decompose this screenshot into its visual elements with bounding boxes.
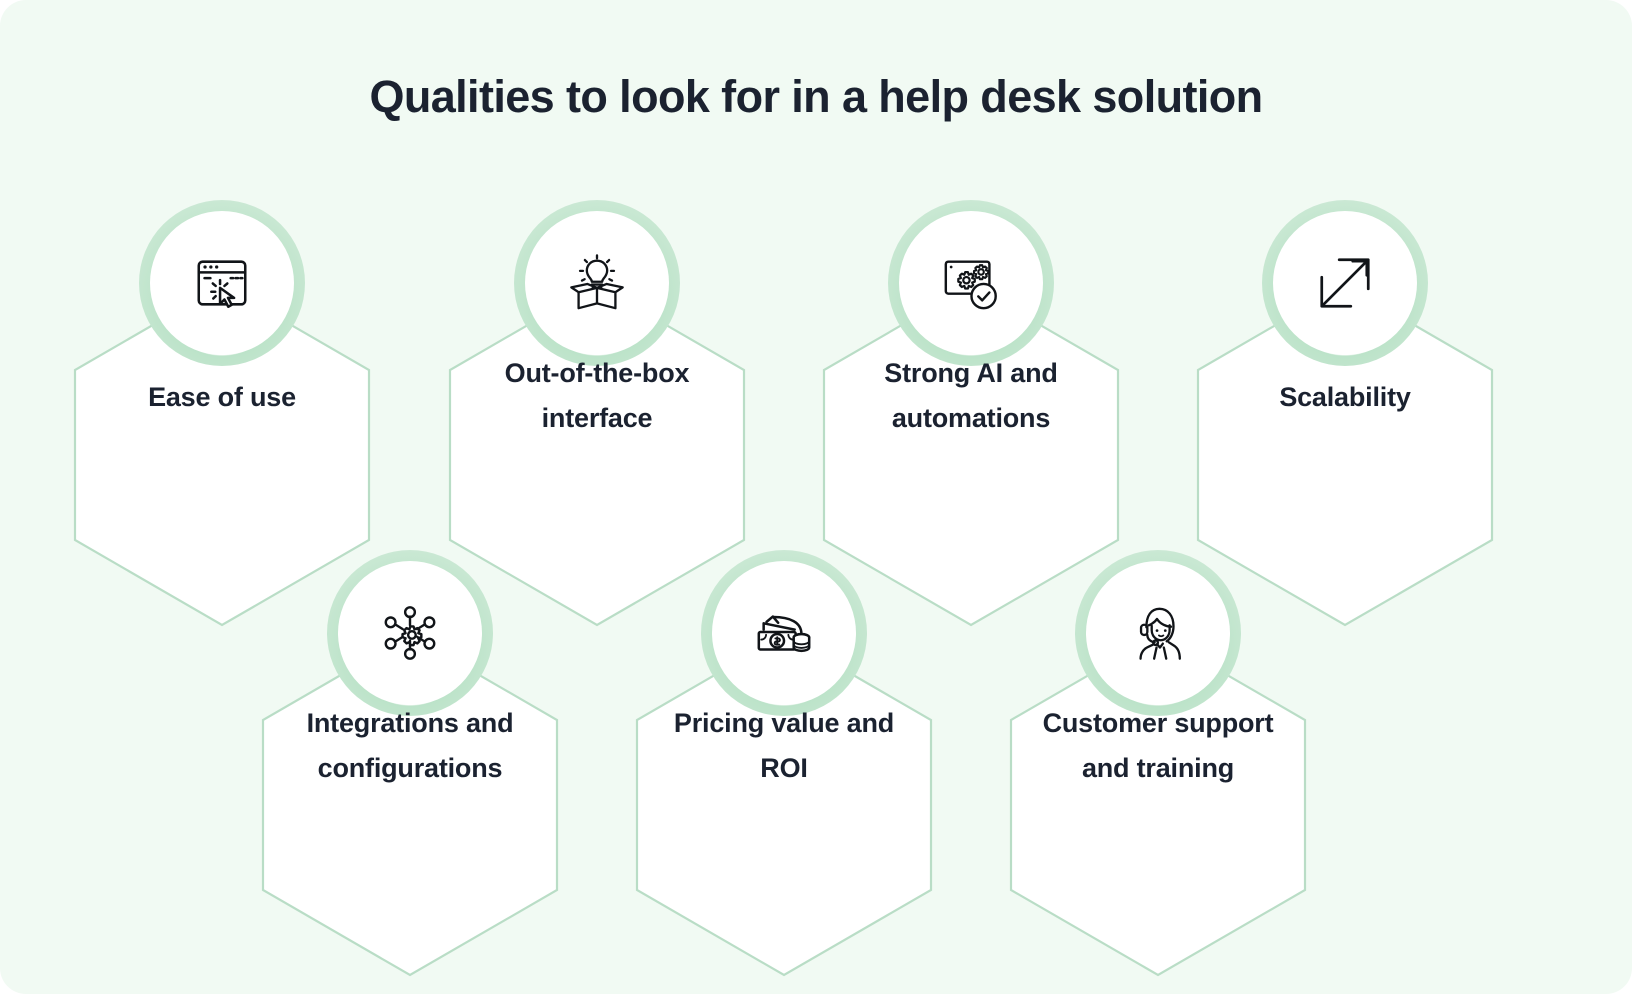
card-scalability: Scalability	[1196, 283, 1494, 627]
card-label-line-2: automations	[892, 403, 1050, 433]
card-label-line-2: ROI	[760, 753, 807, 783]
lightbulb-box-icon	[525, 211, 669, 355]
card-customer-support-and-training: Customer support and training	[1009, 633, 1307, 977]
support-agent-headset-icon	[1086, 561, 1230, 705]
card-ease-of-use: Ease of use	[73, 283, 371, 627]
card-out-of-the-box-interface: Out-of-the-box interface	[448, 283, 746, 627]
card-label-line-1: Strong AI and	[884, 358, 1057, 388]
card-label: Integrations and configurations	[279, 701, 541, 792]
expand-arrow-icon	[1273, 211, 1417, 355]
card-label: Ease of use	[91, 375, 353, 420]
card-label: Pricing value and ROI	[653, 701, 915, 792]
card-strong-ai-and-automations: Strong AI and automations	[822, 283, 1120, 627]
infographic-canvas: Qualities to look for in a help desk sol…	[0, 0, 1632, 994]
gears-screen-check-icon	[899, 211, 1043, 355]
card-label: Out-of-the-box interface	[466, 351, 728, 442]
card-label-line-1: Pricing value and	[674, 708, 894, 738]
card-integrations-and-configurations: Integrations and configurations	[261, 633, 559, 977]
card-label-line-1: Customer support	[1043, 708, 1274, 738]
card-label-line-1: Out-of-the-box	[505, 358, 690, 388]
card-label-line-2: configurations	[318, 753, 503, 783]
card-label-line-1: Integrations and	[307, 708, 514, 738]
card-label: Customer support and training	[1027, 701, 1289, 792]
card-pricing-value-and-roi: Pricing value and ROI	[635, 633, 933, 977]
browser-click-icon	[150, 211, 294, 355]
page-title: Qualities to look for in a help desk sol…	[0, 70, 1632, 124]
card-label-line-2: and training	[1082, 753, 1234, 783]
card-label-line-2: interface	[542, 403, 653, 433]
network-hub-icon	[338, 561, 482, 705]
card-label: Strong AI and automations	[840, 351, 1102, 442]
money-return-icon	[712, 561, 856, 705]
card-label: Scalability	[1214, 375, 1476, 420]
